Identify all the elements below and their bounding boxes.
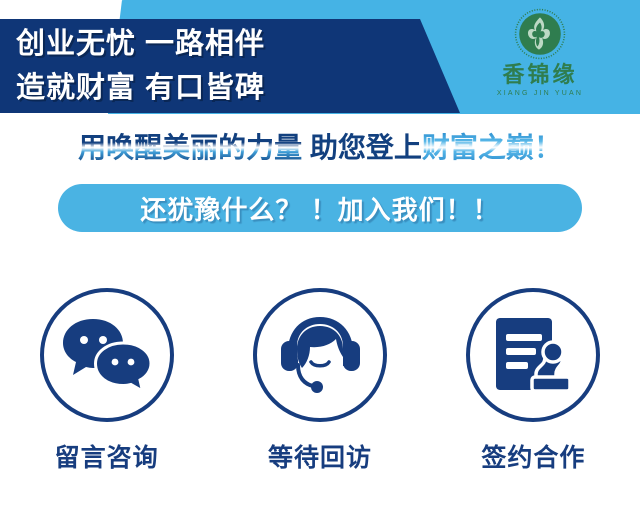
headset-agent-icon [277, 313, 363, 397]
headline-line-1: 创业无忧 一路相伴 [16, 22, 426, 66]
headline-block: 创业无忧 一路相伴 造就财富 有口皆碑 [16, 22, 426, 110]
subheadline-part-3: 财富之巅！ [422, 132, 562, 163]
step-item-sign-contract[interactable]: 签约合作 [427, 288, 640, 474]
subheadline-part-1: 用唤醒美丽的力量 [78, 132, 302, 163]
step-icon-circle [253, 288, 387, 422]
contract-stamp-icon [492, 314, 574, 396]
join-us-cta-button[interactable]: 还犹豫什么？ ！加入我们！！ [58, 184, 582, 232]
promotional-banner: 创业无忧 一路相伴 造就财富 有口皆碑 香锦缘 XIANG JIN YUAN 用… [0, 0, 640, 529]
step-label: 等待回访 [213, 438, 426, 474]
headline-line-2: 造就财富 有口皆碑 [16, 66, 426, 110]
step-label: 签约合作 [427, 438, 640, 474]
chat-bubbles-icon [61, 315, 153, 395]
subheadline: 用唤醒美丽的力量 助您登上财富之巅！ [0, 126, 640, 166]
brand-name-en: XIANG JIN YUAN [478, 88, 602, 100]
subheadline-part-2: 助您登上 [310, 132, 422, 163]
step-item-callback[interactable]: 等待回访 [213, 288, 426, 474]
steps-row: 留言咨询 等待回访 [0, 288, 640, 474]
join-us-cta-label: 还犹豫什么？ ！加入我们！！ [140, 190, 499, 227]
brand-logo: 香锦缘 XIANG JIN YUAN [478, 8, 602, 100]
header-banner: 创业无忧 一路相伴 造就财富 有口皆碑 香锦缘 XIANG JIN YUAN [0, 0, 640, 115]
brand-name-cn: 香锦缘 [478, 62, 602, 88]
phoenix-seal-icon [514, 8, 566, 60]
subheadline-gap [302, 132, 310, 163]
step-icon-circle [40, 288, 174, 422]
step-item-consult[interactable]: 留言咨询 [0, 288, 213, 474]
step-icon-circle [466, 288, 600, 422]
step-label: 留言咨询 [0, 438, 213, 474]
